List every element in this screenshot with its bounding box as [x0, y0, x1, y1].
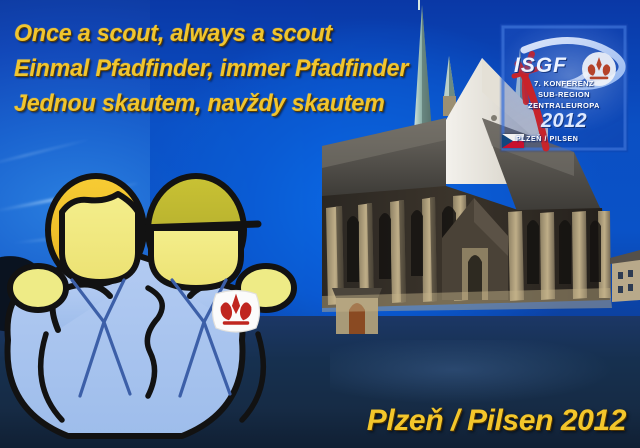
isgf-conference-logo: ISGF 7. KONFERENZ SUB-REGION ZENTRALEURO…: [500, 24, 628, 152]
logo-line-2: SUB-REGION: [500, 90, 628, 99]
logo-org-name: ISGF: [500, 54, 640, 78]
headline-line-czech: Jednou skautem, navždy skautem: [14, 92, 499, 116]
logo-city: PLZEŇ / PILSEN: [516, 136, 578, 143]
logo-line-3: ZENTRALEUROPA: [500, 101, 628, 110]
headline-line-english: Once a scout, always a scout: [14, 22, 499, 46]
headline-line-german: Einmal Pfadfinder, immer Pfadfinder: [14, 57, 499, 81]
logo-line-1: 7. KONFERENZ: [500, 79, 628, 88]
scout-fleur-de-lis-badge: [213, 291, 260, 333]
caption-plzen-pilsen-2012: Plzeň / Pilsen 2012: [367, 404, 626, 438]
headline-block: Once a scout, always a scout Einmal Pfad…: [14, 22, 514, 127]
postcard-poster: ISGF 7. KONFERENZ SUB-REGION ZENTRALEURO…: [0, 0, 640, 448]
scouts-illustration: [0, 158, 308, 448]
ground-sheen: [330, 340, 640, 414]
logo-year: 2012: [500, 110, 628, 133]
